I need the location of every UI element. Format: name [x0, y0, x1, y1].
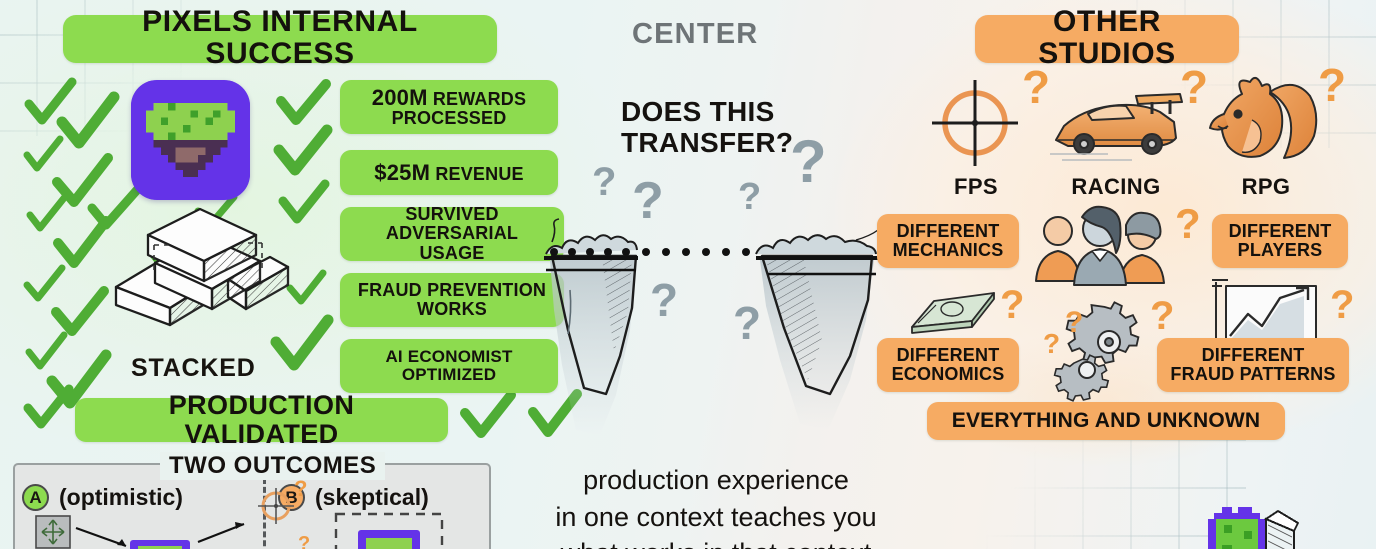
difference-players-line2: PLAYERS — [1238, 240, 1323, 260]
metric-badge-rewards: 200M REWARDS PROCESSED — [340, 80, 558, 134]
two-outcomes-title: TWO OUTCOMES — [160, 452, 385, 480]
left-panel-title-badge: PIXELS INTERNAL SUCCESS — [63, 15, 497, 63]
metric-label-fraud: FRAUD PREVENTION — [358, 280, 546, 300]
infographic-canvas: PIXELS INTERNAL SUCCESS — [0, 0, 1376, 549]
difference-economics-line1: DIFFERENT — [897, 345, 1000, 365]
metric-label2-rewards: PROCESSED — [392, 108, 507, 128]
chasm-illustration — [540, 180, 880, 450]
question-mark-icon: ? — [1330, 285, 1354, 325]
question-mark-icon: ? — [294, 478, 307, 500]
outcome-marker-a: A — [22, 484, 49, 511]
metric-value-revenue: $25M — [374, 160, 430, 185]
outcome-label-b: (skeptical) — [315, 484, 429, 511]
center-label: CENTER — [632, 18, 758, 51]
question-mark-icon: ? — [1180, 64, 1208, 110]
transfer-line1: DOES THIS — [621, 96, 775, 127]
question-mark-icon: ? — [1000, 285, 1024, 325]
genre-label-fps: FPS — [930, 174, 1022, 200]
metric-label-econ: AI ECONOMIST — [385, 347, 512, 366]
difference-mechanics-line2: MECHANICS — [893, 240, 1004, 260]
question-mark-icon: ? — [1022, 64, 1050, 110]
metric-label2-survived: ADVERSARIAL USAGE — [386, 223, 518, 262]
metric-badge-fraud-prevention: FRAUD PREVENTION WORKS — [340, 273, 564, 327]
does-this-transfer-question: DOES THIS TRANSFER? — [621, 96, 793, 159]
metric-badge-ai-economist: AI ECONOMIST OPTIMIZED — [340, 339, 558, 393]
question-mark-icon: ? — [733, 300, 761, 346]
bottom-caption: production experience in one context tea… — [506, 462, 926, 549]
question-mark-icon: ? — [1043, 330, 1060, 358]
outcome-b-diagram — [330, 512, 490, 549]
metric-label2-fraud: WORKS — [417, 299, 487, 319]
metric-label-revenue: REVENUE — [435, 164, 523, 184]
difference-badge-economics: DIFFERENT ECONOMICS — [877, 338, 1019, 392]
metric-badge-revenue: $25M REVENUE — [340, 150, 558, 195]
question-mark-icon: ? — [738, 178, 761, 216]
bottom-caption-line1: production experience — [506, 462, 926, 499]
difference-players-line1: DIFFERENT — [1229, 221, 1332, 241]
stacked-boxes-icon — [60, 205, 330, 350]
outcome-label-a: (optimistic) — [59, 484, 183, 511]
question-mark-icon: ? — [298, 534, 310, 549]
metric-label2-econ: OPTIMIZED — [402, 365, 496, 384]
difference-mechanics-line1: DIFFERENT — [897, 221, 1000, 241]
outcome-a-target-icon — [254, 478, 298, 522]
metric-badge-survived: SURVIVED ADVERSARIAL USAGE — [340, 207, 564, 261]
question-mark-icon: ? — [650, 277, 678, 323]
outcome-a-diagram — [30, 512, 260, 549]
question-mark-icon: ? — [632, 175, 664, 227]
genre-label-rpg: RPG — [1212, 174, 1320, 200]
people-group-icon — [1030, 205, 1172, 285]
metric-label-rewards: REWARDS — [433, 89, 526, 109]
bottom-caption-line3: what works in that context — [506, 535, 926, 549]
difference-badge-players: DIFFERENT PLAYERS — [1212, 214, 1348, 268]
difference-badge-fraud-patterns: DIFFERENT FRAUD PATTERNS — [1157, 338, 1349, 392]
transfer-line2: TRANSFER? — [621, 127, 793, 158]
everything-unknown-label: EVERYTHING AND UNKNOWN — [952, 410, 1261, 432]
question-mark-icon: ? — [1175, 203, 1201, 245]
genre-label-racing: RACING — [1056, 174, 1176, 200]
difference-badge-mechanics: DIFFERENT MECHANICS — [877, 214, 1019, 268]
left-panel-title: PIXELS INTERNAL SUCCESS — [81, 6, 479, 70]
metric-value-rewards: 200M — [372, 85, 428, 110]
right-panel-title-badge: OTHER STUDIOS — [975, 15, 1239, 63]
dragon-icon — [1206, 70, 1324, 172]
race-car-icon — [1048, 78, 1188, 170]
question-mark-icon: ? — [790, 132, 827, 192]
production-validated-badge: PRODUCTION VALIDATED — [75, 398, 448, 442]
difference-economics-line2: ECONOMICS — [892, 364, 1005, 384]
bottom-caption-line2: in one context teaches you — [506, 499, 926, 536]
production-validated-label: PRODUCTION VALIDATED — [88, 391, 435, 448]
crosshair-target-icon — [928, 76, 1022, 170]
difference-fraud-line1: DIFFERENT — [1202, 345, 1305, 365]
difference-fraud-line2: FRAUD PATTERNS — [1170, 364, 1335, 384]
cash-stack-icon — [908, 283, 1000, 341]
everything-unknown-badge: EVERYTHING AND UNKNOWN — [927, 402, 1285, 440]
pixel-character-icon — [1204, 505, 1300, 549]
question-mark-icon: ? — [1318, 62, 1346, 108]
metric-label-survived: SURVIVED — [405, 204, 498, 224]
stacked-label: STACKED — [131, 354, 256, 383]
question-mark-icon: ? — [1065, 308, 1083, 338]
question-mark-icon: ? — [592, 162, 616, 202]
pixels-game-logo — [131, 80, 250, 200]
question-mark-icon: ? — [1150, 296, 1174, 336]
